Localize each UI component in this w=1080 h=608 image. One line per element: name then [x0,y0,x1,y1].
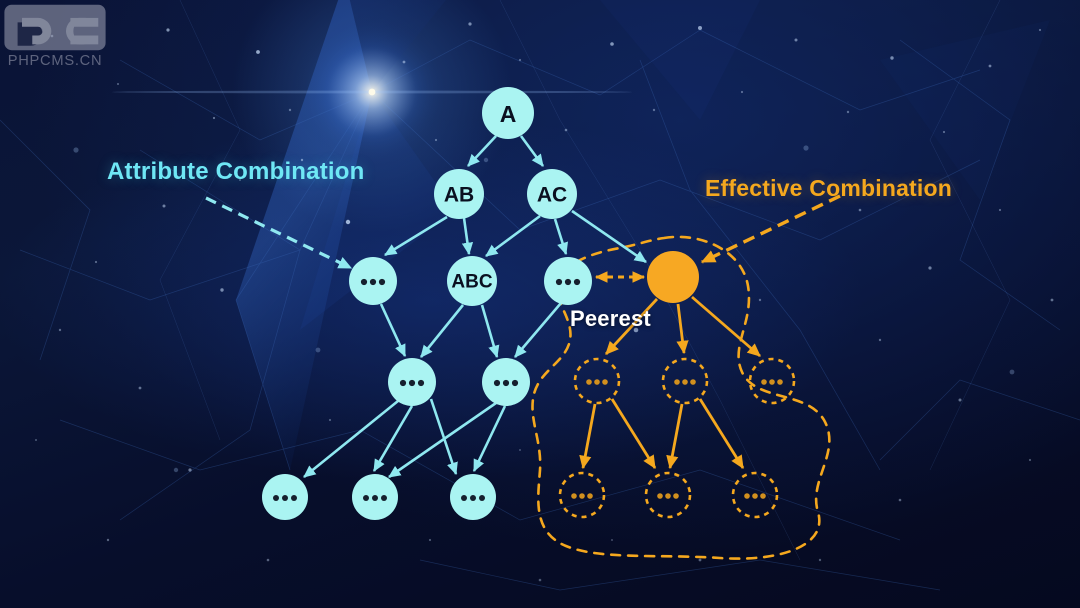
watermark-text: PHPCMS.CN [8,53,103,69]
node-Oc [750,359,794,403]
cyan-node-group: A AB AC ABC [262,87,592,520]
watermark-logo: PHPCMS.CN [0,0,110,74]
node-Oe [646,473,690,517]
graph-layer: A AB AC ABC [0,0,1080,608]
svg-text:AB: AB [444,184,474,207]
node-orange-root [647,251,699,303]
svg-text:ABC: ABC [451,272,492,293]
node-L5b [352,474,398,520]
node-L5a [262,474,308,520]
node-AB: AB [434,169,484,219]
diagram-canvas: A AB AC ABC [0,0,1080,608]
node-A: A [482,87,534,139]
node-Oa [575,359,619,403]
effective-combination-label: Effective Combination [705,175,952,202]
node-L4b [482,358,530,406]
effective-callout-arrow [702,196,840,262]
node-L5c [450,474,496,520]
node-Of [733,473,777,517]
attribute-callout-arrow [206,198,351,268]
node-L4a [388,358,436,406]
svg-text:AC: AC [537,184,567,207]
svg-text:A: A [500,101,517,127]
node-AC: AC [527,169,577,219]
node-L3a [349,257,397,305]
node-ABC: ABC [447,256,497,306]
peerest-label: Peerest [570,306,651,332]
node-L3c [544,257,592,305]
node-Od [560,473,604,517]
node-Ob [663,359,707,403]
orange-node-group [560,251,794,517]
attribute-combination-label: Attribute Combination [107,158,365,186]
